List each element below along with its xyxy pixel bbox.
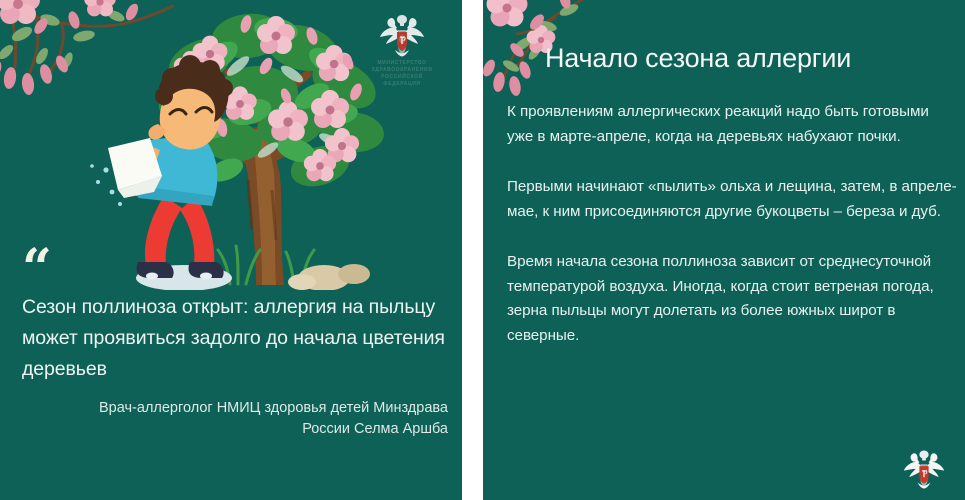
quote-text: Сезон поллиноза открыт: аллергия на пыль… xyxy=(22,292,450,385)
ministry-caption-line-2: ЗДРАВООХРАНЕНИЯ xyxy=(366,67,438,74)
paragraph-1: К проявлениям аллергических реакций надо… xyxy=(507,100,959,149)
ministry-caption-line-3: РОССИЙСКОЙ ФЕДЕРАЦИИ xyxy=(366,74,438,88)
sneezing-boy-icon xyxy=(90,55,233,290)
paragraph-2: Первыми начинают «пылить» ольха и лещина… xyxy=(507,175,959,224)
quote-attribution: Врач-аллерголог НМИЦ здоровья детей Минз… xyxy=(56,398,448,440)
paragraph-3: Время начала сезона поллиноза зависит от… xyxy=(507,250,959,348)
page-title: Начало сезона аллергии xyxy=(545,40,945,76)
double-headed-eagle-emblem-icon xyxy=(377,8,427,58)
ministry-caption: МИНИСТЕРСТВО ЗДРАВООХРАНЕНИЯ РОССИЙСКОЙ … xyxy=(366,60,438,88)
right-panel: Начало сезона аллергии К проявлениям алл… xyxy=(483,0,965,500)
body-text: К проявлениям аллергических реакций надо… xyxy=(507,100,959,348)
panel-divider xyxy=(462,0,483,500)
ministry-of-health-logo-left: МИНИСТЕРСТВО ЗДРАВООХРАНЕНИЯ РОССИЙСКОЙ … xyxy=(366,8,438,88)
quote-mark-icon: “ xyxy=(22,252,50,286)
allergy-season-poster: МИНИСТЕРСТВО ЗДРАВООХРАНЕНИЯ РОССИЙСКОЙ … xyxy=(0,0,965,500)
ground-grass-and-stones-icon xyxy=(218,246,370,290)
left-panel: МИНИСТЕРСТВО ЗДРАВООХРАНЕНИЯ РОССИЙСКОЙ … xyxy=(0,0,462,500)
ministry-of-health-emblem-right-icon xyxy=(901,444,947,490)
ministry-caption-line-1: МИНИСТЕРСТВО xyxy=(366,60,438,67)
